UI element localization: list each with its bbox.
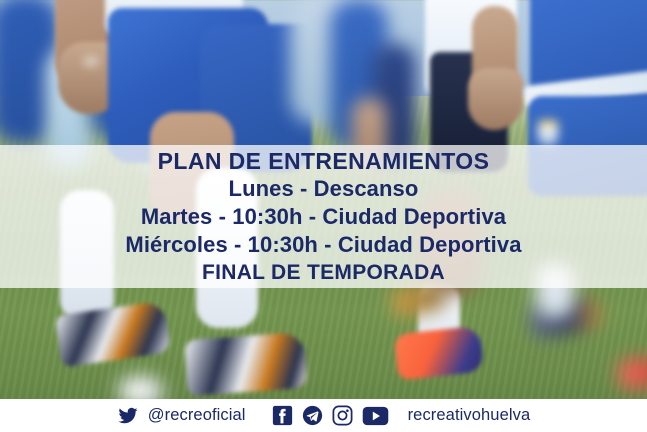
social-footer: @recreoficial <box>0 399 647 432</box>
photo-ring <box>84 58 98 65</box>
twitter-icon[interactable] <box>117 406 139 425</box>
poster: PLAN DE ENTRENAMIENTOS Lunes - Descanso … <box>0 0 647 432</box>
footer-spacer <box>255 415 263 416</box>
photo-boot-orange <box>394 326 484 381</box>
photo-boot <box>184 332 308 396</box>
photo-shorts-crest <box>538 120 558 146</box>
schedule-line-wednesday: Miércoles - 10:30h - Ciudad Deportiva <box>125 231 521 259</box>
facebook-icon[interactable] <box>272 405 293 426</box>
photo-player-hand <box>468 68 524 130</box>
social-handle[interactable]: recreativohuelva <box>408 406 531 425</box>
schedule-line-monday: Lunes - Descanso <box>229 175 419 203</box>
twitter-handle[interactable]: @recreoficial <box>148 406 246 425</box>
schedule-line-tuesday: Martes - 10:30h - Ciudad Deportiva <box>141 203 506 231</box>
announcement-band: PLAN DE ENTRENAMIENTOS Lunes - Descanso … <box>0 145 647 288</box>
instagram-icon[interactable] <box>332 405 353 426</box>
youtube-icon[interactable] <box>362 406 389 426</box>
footer-spacer <box>398 415 399 416</box>
season-end-note: FINAL DE TEMPORADA <box>202 259 445 287</box>
telegram-icon[interactable] <box>302 405 323 426</box>
announcement-title: PLAN DE ENTRENAMIENTOS <box>158 147 490 175</box>
